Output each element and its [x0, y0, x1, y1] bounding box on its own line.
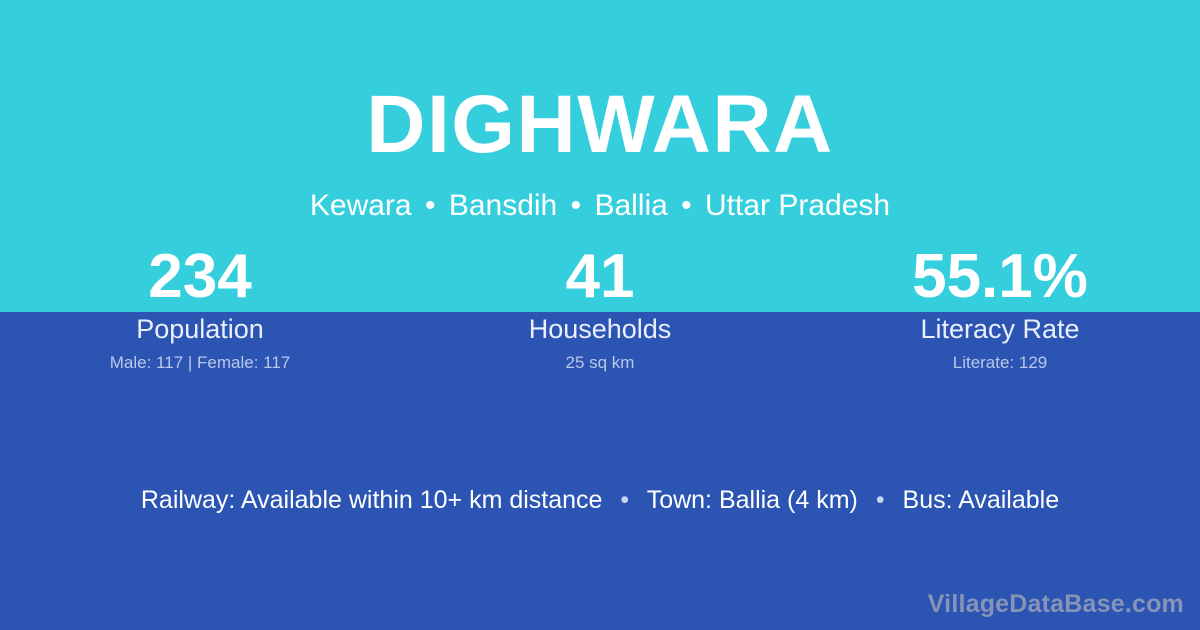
stat-sublabel: Male: 117 | Female: 117: [0, 353, 400, 373]
amenity-town: Town: Ballia (4 km): [647, 486, 858, 514]
headline-block: DIGHWARA Kewara • Bansdih • Ballia • Utt…: [0, 0, 1200, 224]
page-title: DIGHWARA: [0, 0, 1200, 166]
breadcrumb-separator-icon: •: [676, 189, 697, 222]
stat-literacy-rate: 55.1% Literacy Rate Literate: 129: [800, 243, 1200, 373]
amenity-railway: Railway: Available within 10+ km distanc…: [141, 486, 603, 514]
breadcrumb-part-2: Ballia: [594, 189, 667, 222]
stat-label: Households: [400, 313, 800, 345]
breadcrumb-part-3: Uttar Pradesh: [705, 189, 890, 222]
amenity-separator-icon: •: [609, 486, 640, 514]
stat-sublabel: Literate: 129: [800, 353, 1200, 373]
stat-label: Population: [0, 313, 400, 345]
amenity-bus: Bus: Available: [903, 486, 1060, 514]
stat-label: Literacy Rate: [800, 313, 1200, 345]
stat-value: 55.1%: [800, 243, 1200, 311]
stats-row: 234 Population Male: 117 | Female: 117 4…: [0, 243, 1200, 373]
breadcrumb-separator-icon: •: [420, 189, 441, 222]
stat-value: 41: [400, 243, 800, 311]
amenities-line: Railway: Available within 10+ km distanc…: [0, 484, 1200, 516]
stat-population: 234 Population Male: 117 | Female: 117: [0, 243, 400, 373]
stat-sublabel: 25 sq km: [400, 353, 800, 373]
amenity-separator-icon: •: [865, 486, 896, 514]
stat-households: 41 Households 25 sq km: [400, 243, 800, 373]
breadcrumb-part-0: Kewara: [310, 189, 412, 222]
village-info-card: DIGHWARA Kewara • Bansdih • Ballia • Utt…: [0, 0, 1200, 630]
breadcrumb-part-1: Bansdih: [449, 189, 557, 222]
breadcrumb: Kewara • Bansdih • Ballia • Uttar Prades…: [0, 166, 1200, 224]
stat-value: 234: [0, 243, 400, 311]
site-watermark: VillageDataBase.com: [928, 589, 1184, 619]
breadcrumb-separator-icon: •: [566, 189, 587, 222]
